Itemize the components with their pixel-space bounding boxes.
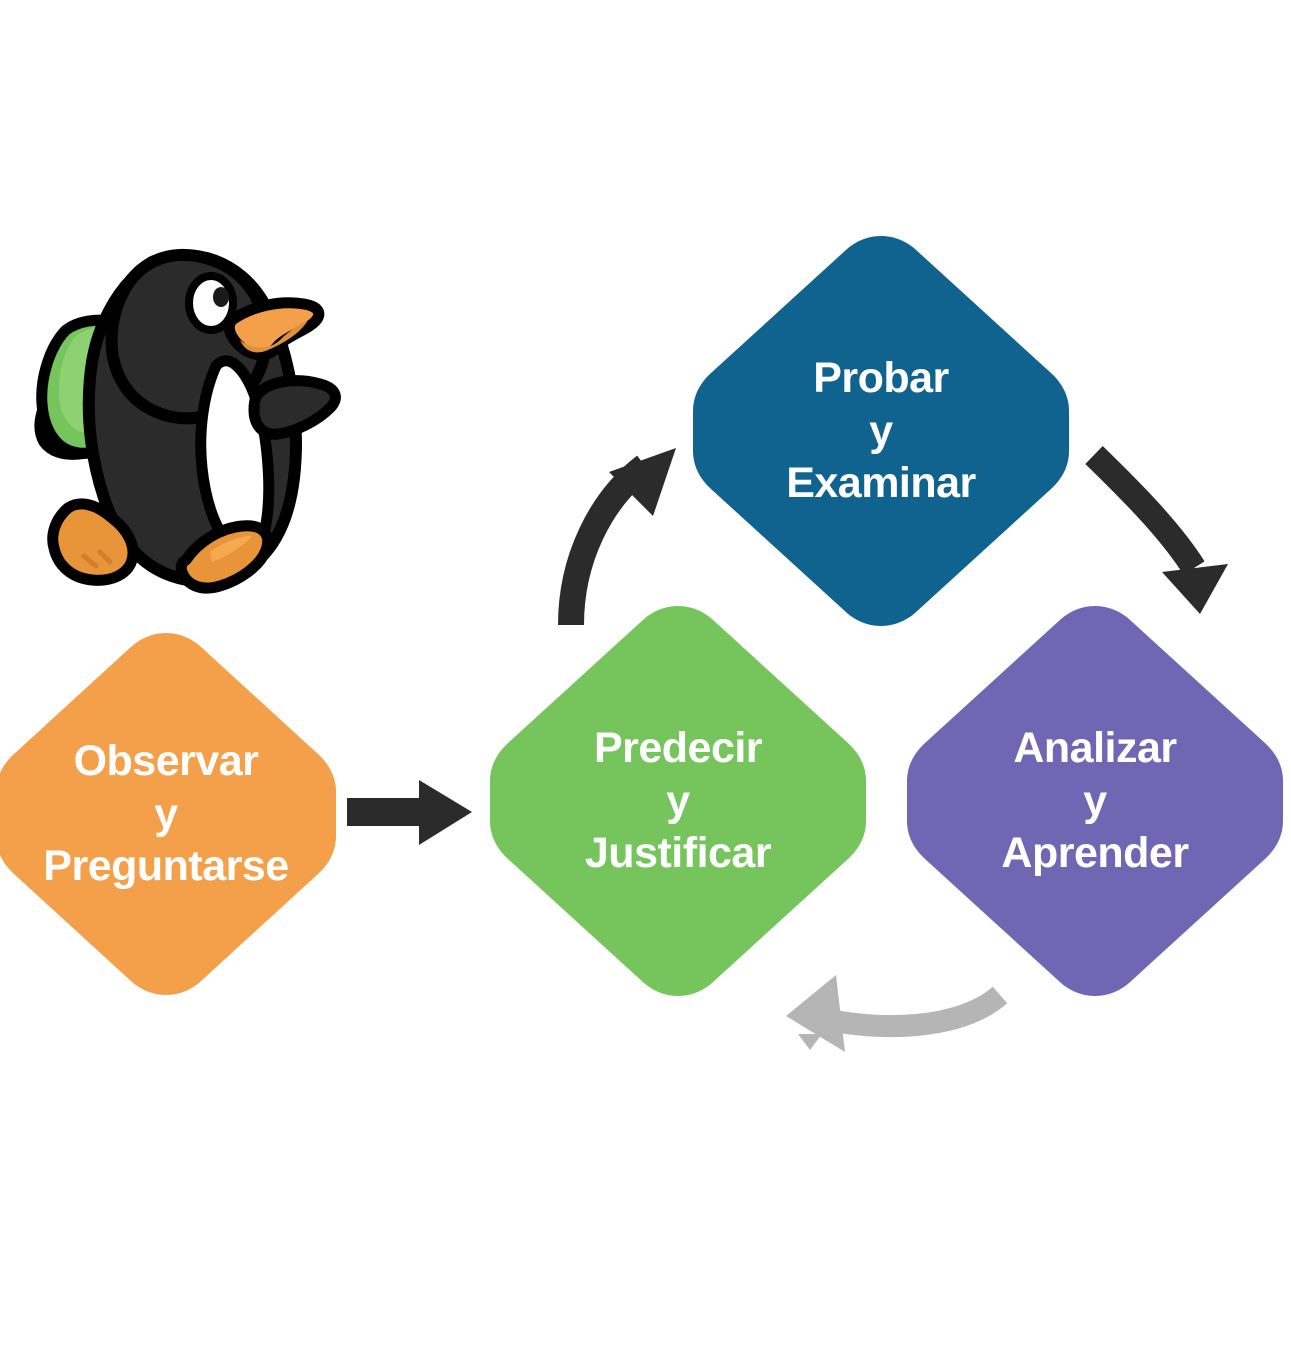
connector-predecir-to-probar bbox=[571, 448, 676, 625]
penguin-mascot bbox=[40, 255, 335, 588]
connector-observar-to-predecir bbox=[347, 780, 472, 845]
hexagon-probar-hit[interactable] bbox=[693, 236, 1069, 626]
hexagon-analizar-hit[interactable] bbox=[907, 606, 1283, 996]
connector-probar-to-analizar bbox=[1094, 455, 1228, 614]
hexagon-predecir-hit[interactable] bbox=[490, 606, 866, 996]
hexagon-observar-hit[interactable] bbox=[0, 633, 336, 995]
